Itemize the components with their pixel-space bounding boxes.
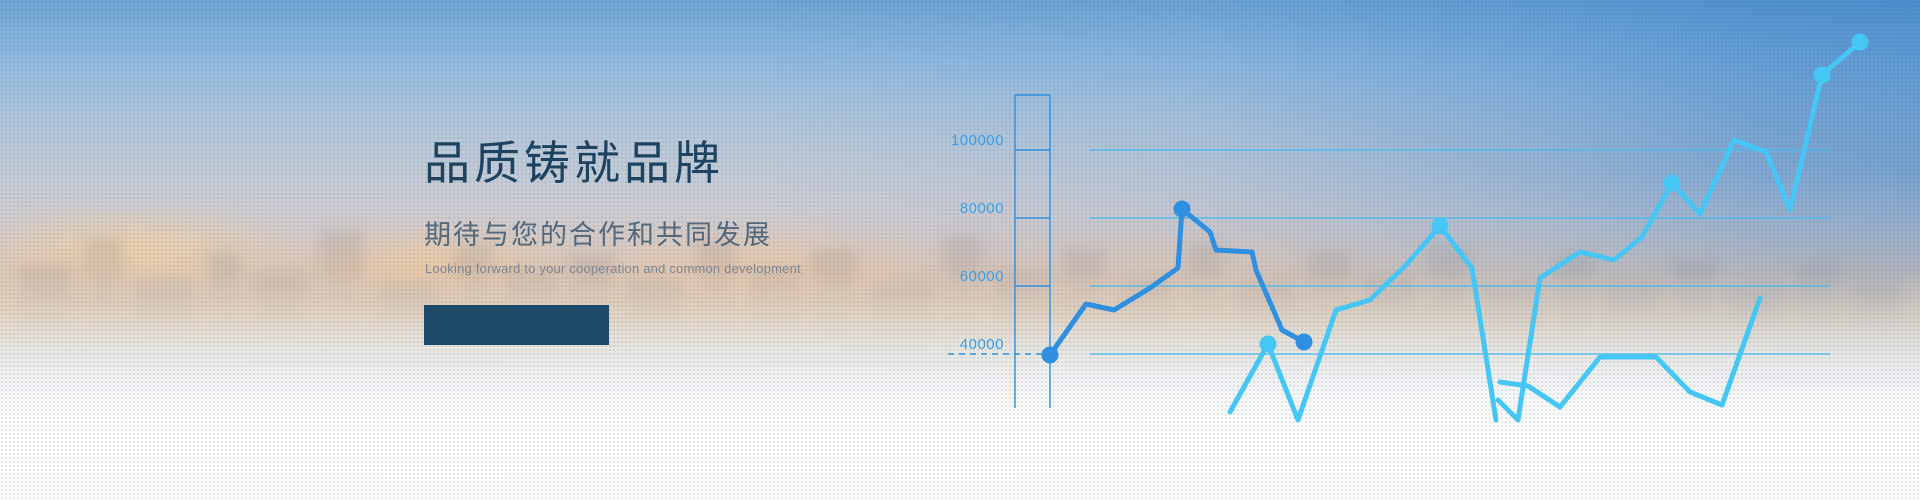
hero-text-block: 品质铸就品牌 期待与您的合作和共同发展 Looking forward to y…	[424, 140, 984, 345]
chart-svg: 100000 80000 60000 40000	[900, 0, 1920, 440]
subtitle-en: Looking forward to your cooperation and …	[425, 262, 984, 275]
chart-series-1-line	[1050, 209, 1304, 355]
marker-series3-end	[1852, 34, 1869, 51]
chart-series-4-line	[1500, 298, 1760, 407]
marker-series1-end	[1296, 334, 1313, 351]
hero-banner: 100000 80000 60000 40000	[0, 0, 1920, 500]
page-title: 品质铸就品牌	[424, 140, 984, 186]
cta-button[interactable]	[424, 305, 609, 345]
chart-series-2-line	[1230, 226, 1496, 420]
marker-series1-start	[1042, 347, 1059, 364]
marker-series3-mid	[1664, 175, 1681, 192]
marker-series2-start	[1260, 336, 1277, 353]
marker-series3-high	[1814, 67, 1831, 84]
chart-series-3-line	[1498, 42, 1860, 420]
statistics-chart: 100000 80000 60000 40000	[900, 0, 1920, 440]
marker-series2-peak	[1432, 218, 1449, 235]
subtitle-cn: 期待与您的合作和共同发展	[424, 222, 984, 249]
chart-data-markers	[1042, 34, 1869, 364]
marker-series1-peak	[1174, 201, 1191, 218]
